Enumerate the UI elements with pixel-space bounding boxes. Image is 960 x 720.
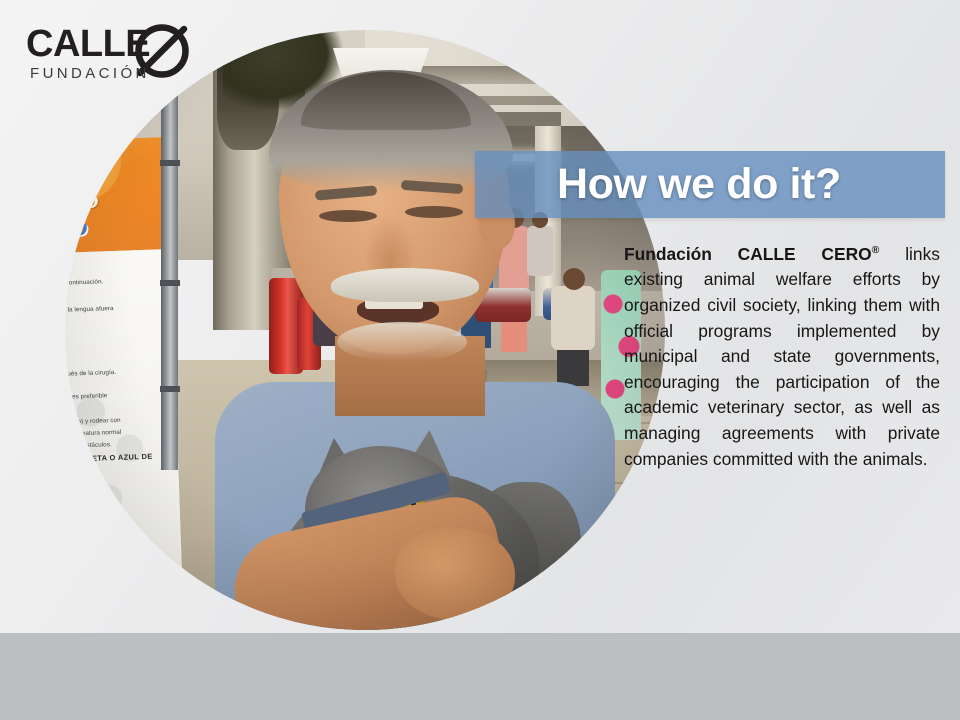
page-title: How we do it? xyxy=(557,155,841,213)
brand-logo: CALLE FUNDACIÓN xyxy=(26,22,201,88)
photo-pole-joint xyxy=(160,386,180,392)
photo-person-torso xyxy=(527,226,553,276)
poster-text-line: icamentos un día después de la cirugía. xyxy=(65,369,116,380)
footer-band xyxy=(0,633,960,720)
poster-footer-line: ER UN PROPIETARIO xyxy=(65,581,129,593)
body-rest: links existing animal welfare efforts by… xyxy=(624,244,940,469)
poster-text-line: doblar el cuello, dejar la lengua afuera xyxy=(65,305,114,316)
photo-pole-joint xyxy=(160,280,180,286)
photo-man-eye xyxy=(405,206,463,218)
body-paragraph: Fundación CALLE CERO® links existing ani… xyxy=(624,238,940,472)
photo-metal-pole xyxy=(161,30,178,470)
poster-header-band: otando amigo xyxy=(65,137,171,255)
photo-man-mustache xyxy=(331,268,479,302)
photo-man-eye xyxy=(319,210,377,222)
poster-headline-top: otando xyxy=(65,189,98,215)
poster-headline-bottom: amigo xyxy=(65,214,88,243)
logo-subtitle: FUNDACIÓN xyxy=(30,65,150,82)
body-lead-bold: Fundación CALLE CERO xyxy=(624,244,872,264)
photo-person-legs xyxy=(557,348,589,386)
photo-man-hand xyxy=(395,528,515,620)
photo-person-head xyxy=(563,268,585,290)
photo-person-torso xyxy=(551,286,595,350)
poster-text-line: caciones descritas a continuación. xyxy=(65,278,104,288)
photo-pole-joint xyxy=(160,160,180,166)
circular-photo: otando amigo rugía. caciones descritas a… xyxy=(65,30,665,630)
photo-man-chin-stubble xyxy=(337,322,467,362)
slide-canvas: otando amigo rugía. caciones descritas a… xyxy=(0,0,960,720)
title-banner: How we do it? xyxy=(475,151,945,218)
